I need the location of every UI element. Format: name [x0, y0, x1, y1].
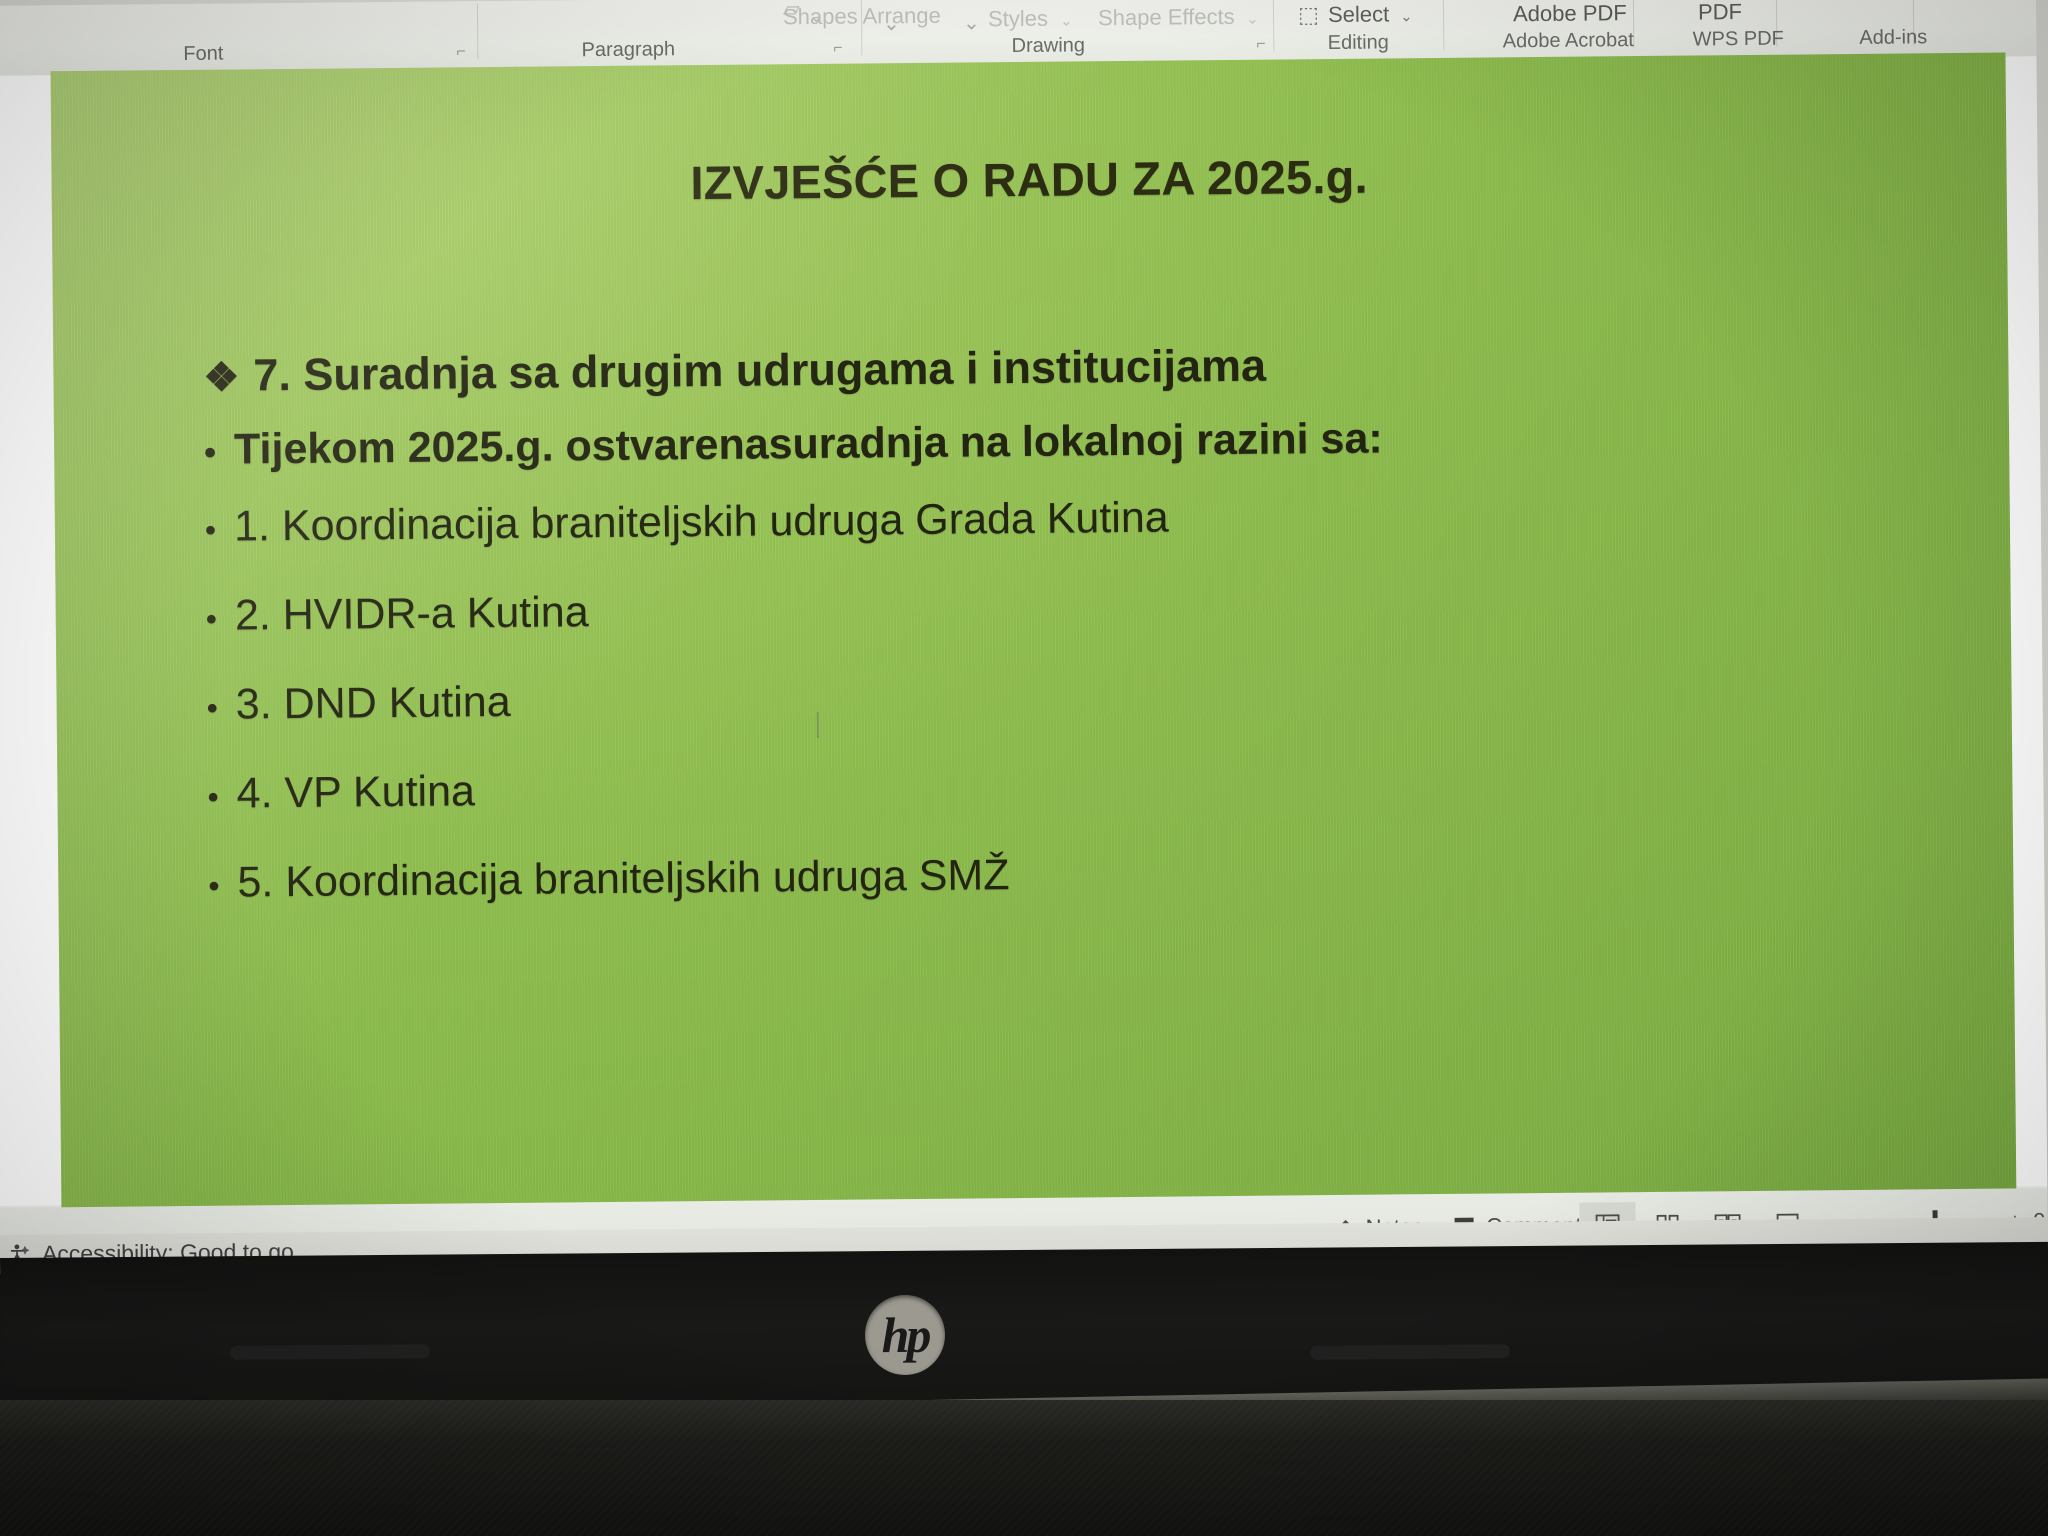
ribbon-group-label-drawing: Drawing: [973, 34, 1123, 58]
hp-logo: hp: [865, 1295, 946, 1376]
bullet-text: Tijekom 2025.g. ostvarenasuradnja na lok…: [234, 409, 1964, 475]
list-item[interactable]: • 1. Koordinacija braniteljskih udruga G…: [205, 486, 1965, 552]
quick-styles-chevron-down-icon[interactable]: ⌄: [1060, 11, 1073, 29]
list-item[interactable]: • 5. Koordinacija braniteljskih udruga S…: [208, 842, 1968, 908]
round-bullet-icon: •: [204, 434, 216, 473]
round-bullet-icon: •: [207, 779, 219, 816]
create-and-share-adobe-pdf-label[interactable]: Adobe PDF: [1513, 0, 1627, 27]
speaker-grille-left: [230, 1344, 430, 1360]
bullet-text: 7. Suradnja sa drugim udrugama i institu…: [253, 333, 1964, 401]
shapes-gallery-chevron-down-icon[interactable]: ⌄: [883, 11, 900, 36]
ribbon-group-label-editing: Editing: [1293, 31, 1423, 55]
text-cursor-artifact: [817, 712, 819, 738]
slide-canvas-area: IZVJEŠĆE O RADU ZA 2025.g. ❖ 7. Suradnja…: [0, 56, 2047, 1206]
bullet-item-heading[interactable]: ❖ 7. Suradnja sa drugim udrugama i insti…: [203, 333, 1963, 402]
select-chevron-down-icon[interactable]: ⌄: [1400, 7, 1413, 25]
ribbon-divider: [1443, 0, 1445, 50]
bullet-text: 2. HVIDR-a Kutina: [235, 575, 1966, 641]
list-item[interactable]: • 2. HVIDR-a Kutina: [206, 575, 1966, 641]
create-pdf-sub-label[interactable]: PDF: [1698, 0, 1742, 25]
bullet-text: 5. Koordinacija braniteljskih udruga SMŽ: [237, 842, 1968, 908]
slide-1[interactable]: IZVJEŠĆE O RADU ZA 2025.g. ❖ 7. Suradnja…: [51, 53, 2017, 1222]
bullet-text: 1. Koordinacija braniteljskih udruga Gra…: [234, 486, 1965, 552]
round-bullet-icon: •: [206, 601, 218, 638]
ribbon-divider: [477, 3, 479, 59]
shape-effects-chevron-down-icon[interactable]: ⌄: [1246, 10, 1259, 28]
round-bullet-icon: •: [208, 868, 220, 905]
ribbon-group-label-add-ins: Add-ins: [1813, 26, 1973, 51]
laptop-screen: A A A ≡ ≡ ≡ ≡ ▤ Shapes Arrange Styles ⌄ …: [0, 0, 2048, 1274]
shape-outline-icon[interactable]: ▱: [783, 0, 800, 22]
diamond-bullet-icon: ❖: [203, 354, 239, 400]
font-dialog-launcher-icon[interactable]: ⌐: [456, 43, 466, 61]
slide-title[interactable]: IZVJEŠĆE O RADU ZA 2025.g.: [51, 143, 2006, 217]
ribbon-group-label-paragraph: Paragraph: [548, 38, 708, 63]
bullet-text: 4. VP Kutina: [236, 753, 1967, 819]
shape-fill-icon[interactable]: ▭: [1073, 0, 1094, 1]
round-bullet-icon: •: [206, 690, 218, 727]
arrange-chevron-down-icon[interactable]: ⌄: [963, 10, 980, 35]
photo-of-laptop-screen: A A A ≡ ≡ ≡ ≡ ▤ Shapes Arrange Styles ⌄ …: [0, 0, 2048, 1536]
paragraph-dialog-launcher-icon[interactable]: ⌐: [833, 40, 843, 58]
select-label[interactable]: Select: [1328, 1, 1389, 28]
quick-styles-label[interactable]: Styles: [988, 6, 1048, 33]
slide-body-content[interactable]: ❖ 7. Suradnja sa drugim udrugama i insti…: [203, 333, 1969, 948]
drawing-dialog-launcher-icon[interactable]: ⌐: [1256, 36, 1266, 54]
ribbon-group-label-font: Font: [143, 42, 263, 66]
select-icon[interactable]: ⬚: [1298, 2, 1319, 28]
speaker-grille-right: [1310, 1344, 1510, 1360]
list-item[interactable]: • 3. DND Kutina: [206, 664, 1966, 730]
list-item[interactable]: • 4. VP Kutina: [207, 753, 1967, 819]
shape-effects-label[interactable]: Shape Effects: [1098, 4, 1235, 31]
ribbon-divider: [1273, 0, 1275, 52]
bullet-item-intro[interactable]: • Tijekom 2025.g. ostvarenasuradnja na l…: [204, 409, 1964, 475]
shape-outline-chevron-down-icon[interactable]: ⌄: [810, 8, 823, 26]
round-bullet-icon: •: [205, 512, 217, 549]
laptop-keyboard-deck: [0, 1400, 2048, 1536]
bullet-text: 3. DND Kutina: [236, 664, 1967, 730]
ribbon-group-label-wps-pdf: WPS PDF: [1648, 27, 1828, 52]
